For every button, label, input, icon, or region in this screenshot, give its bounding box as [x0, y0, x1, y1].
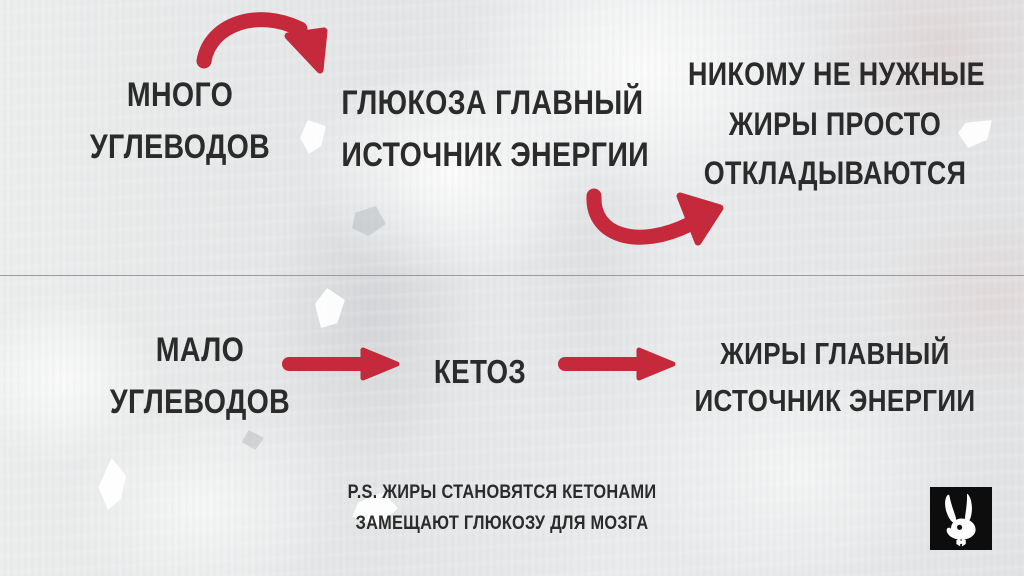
label-fat-stored-line-2: ЖИРЫ ПРОСТО [688, 100, 982, 150]
brand-logo-badge [930, 487, 992, 550]
label-fat-main-energy-source: ЖИРЫ ГЛАВНЫЙ ИСТОЧНИК ЭНЕРГИИ [692, 330, 978, 424]
label-fat-energy-line-1: ЖИРЫ ГЛАВНЫЙ [692, 330, 978, 377]
footnote-line-1: P.S. ЖИРЫ СТАНОВЯТСЯ КЕТОНАМИ [317, 478, 687, 509]
label-ketosis: КЕТОЗ [413, 347, 547, 397]
bunny-eye-icon [957, 525, 962, 530]
bunny-head-bowtie-icon [930, 487, 992, 550]
curved-arrow-right-down-icon [196, 6, 346, 78]
infographic-canvas: МНОГО УГЛЕВОДОВ ГЛЮКОЗА ГЛАВНЫЙ ИСТОЧНИК… [0, 0, 1024, 576]
label-glucose-line-1: ГЛЮКОЗА ГЛАВНЫЙ [341, 78, 618, 130]
label-fat-energy-line-2: ИСТОЧНИК ЭНЕРГИИ [692, 377, 978, 424]
section-divider [0, 275, 1024, 276]
label-glucose-main-energy-source: ГЛЮКОЗА ГЛАВНЫЙ ИСТОЧНИК ЭНЕРГИИ [341, 78, 618, 181]
label-fat-stored-line-3: ОТКЛАДЫВАЮТСЯ [688, 149, 982, 199]
label-few-carbs-line-2: УГЛЕВОДОВ [74, 377, 326, 429]
straight-arrow-right-icon [281, 348, 403, 380]
label-many-carbs: МНОГО УГЛЕВОДОВ [46, 70, 315, 173]
footnote-postscript: P.S. ЖИРЫ СТАНОВЯТСЯ КЕТОНАМИ ЗАМЕЩАЮТ Г… [317, 478, 687, 540]
label-glucose-line-2: ИСТОЧНИК ЭНЕРГИИ [341, 130, 618, 182]
label-many-carbs-line-2: УГЛЕВОДОВ [46, 122, 315, 174]
straight-arrow-right-icon [557, 348, 679, 380]
footnote-line-2: ЗАМЕЩАЮТ ГЛЮКОЗУ ДЛЯ МОЗГА [317, 509, 687, 540]
label-ketosis-line-1: КЕТОЗ [413, 347, 547, 397]
label-unneeded-fat-stored: НИКОМУ НЕ НУЖНЫЕ ЖИРЫ ПРОСТО ОТКЛАДЫВАЮТ… [688, 50, 982, 199]
label-fat-stored-line-1: НИКОМУ НЕ НУЖНЫЕ [688, 50, 982, 100]
